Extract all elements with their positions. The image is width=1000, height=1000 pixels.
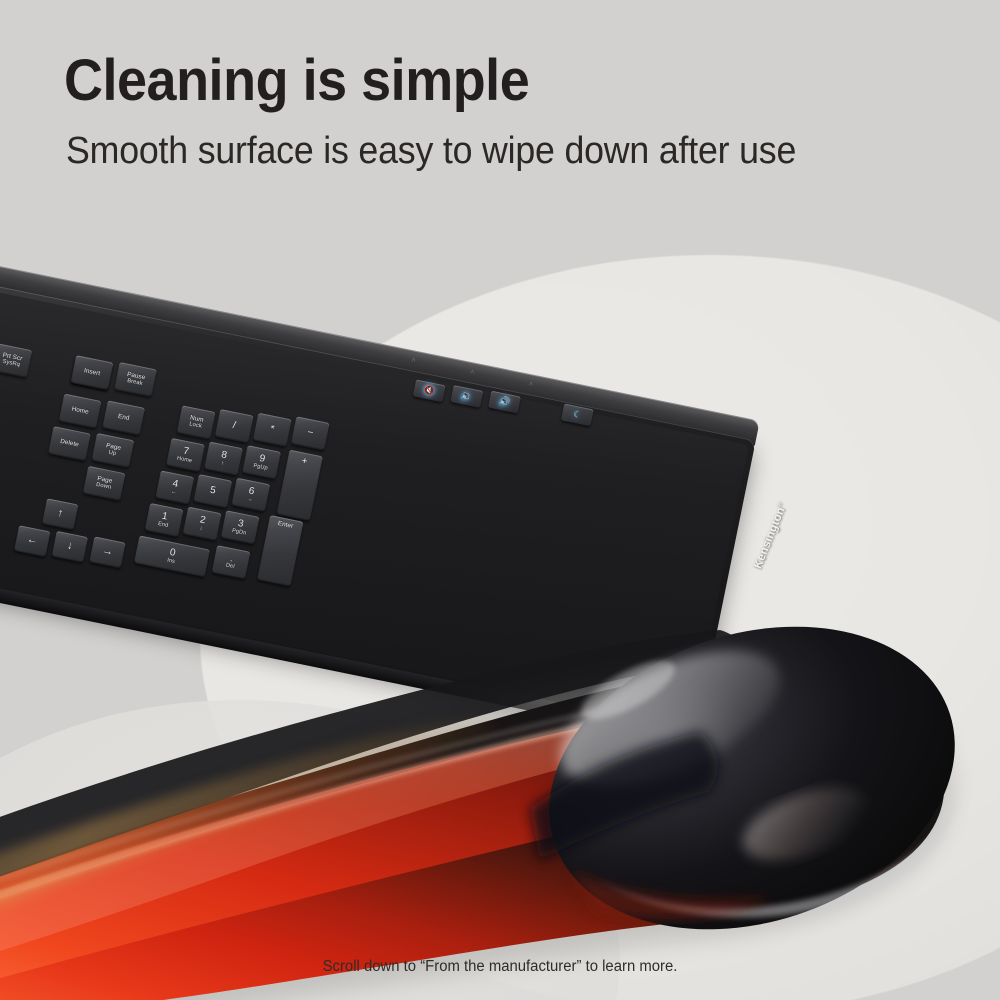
key-sublabel: PgUp bbox=[253, 462, 268, 471]
key-sublabel: Home bbox=[176, 455, 192, 465]
page-title: Cleaning is simple bbox=[64, 52, 529, 110]
key-sublabel: Break bbox=[127, 378, 144, 387]
key-sublabel: ↓ bbox=[199, 525, 203, 532]
key-sublabel: Down bbox=[95, 482, 111, 491]
key-sublabel: End bbox=[157, 521, 168, 530]
key-sublabel: PgDn bbox=[231, 528, 246, 537]
key-sublabel: Up bbox=[108, 450, 117, 457]
page-subtitle: Smooth surface is easy to wipe down afte… bbox=[66, 132, 796, 170]
key-label: 5 bbox=[209, 486, 217, 497]
gel-wrist-rest bbox=[0, 540, 1000, 1000]
led-indicator-scrolllock: ʌ bbox=[527, 380, 535, 388]
led-indicator-capslock: ʌ bbox=[468, 368, 476, 376]
key-sublabel: Lock bbox=[189, 421, 203, 429]
key-sublabel: ↑ bbox=[220, 460, 224, 467]
key-sublabel: → bbox=[246, 496, 253, 504]
product-lifestyle-image: ʌ ʌ ʌ 🔇 🔉 🔊 ☾ F12 ScrollLock Prt ScrSysR… bbox=[0, 0, 1000, 1000]
key-sublabel: ← bbox=[170, 489, 177, 497]
led-indicator-numlock: ʌ bbox=[409, 356, 417, 364]
footer-caption: Scroll down to “From the manufacturer” t… bbox=[20, 958, 980, 976]
